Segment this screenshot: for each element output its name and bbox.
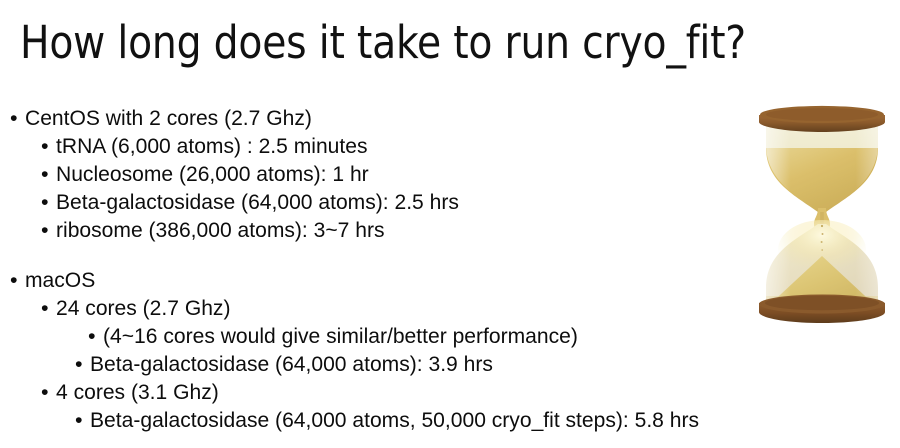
list-item: • Nucleosome (26,000 atoms): 1 hr: [0, 160, 745, 188]
hourglass-icon: [752, 100, 892, 328]
bullet-icon: •: [41, 294, 49, 322]
list-item-label: 4 cores (3.1 Ghz): [56, 378, 219, 406]
list-item-label: CentOS with 2 cores (2.7 Ghz): [25, 104, 312, 132]
list-item: • Beta-galactosidase (64,000 atoms): 2.5…: [0, 188, 745, 216]
bullet-icon: •: [88, 322, 96, 350]
bullet-icon: •: [10, 104, 18, 132]
page-title: How long does it take to run cryo_fit?: [20, 16, 728, 70]
list-item-label: macOS: [25, 266, 95, 294]
list-item: • CentOS with 2 cores (2.7 Ghz): [0, 104, 745, 132]
list-item-label: 24 cores (2.7 Ghz): [56, 294, 230, 322]
list-item: • (4~16 cores would give similar/better …: [0, 322, 745, 350]
bullet-icon: •: [75, 350, 83, 378]
list-item: • Beta-galactosidase (64,000 atoms): 3.9…: [0, 350, 745, 378]
bullet-icon: •: [10, 266, 18, 294]
list-item-label: Nucleosome (26,000 atoms): 1 hr: [56, 160, 369, 188]
bullet-icon: •: [41, 160, 49, 188]
bullet-icon: •: [41, 216, 49, 244]
list-item-label: tRNA (6,000 atoms) : 2.5 minutes: [56, 132, 368, 160]
bullet-icon: •: [41, 132, 49, 160]
list-item: • Beta-galactosidase (64,000 atoms, 50,0…: [0, 406, 745, 434]
bullet-icon: •: [41, 378, 49, 406]
list-item: • 4 cores (3.1 Ghz): [0, 378, 745, 406]
list-spacer: [0, 244, 745, 266]
list-item-label: Beta-galactosidase (64,000 atoms): 2.5 h…: [56, 188, 459, 216]
list-item: • 24 cores (2.7 Ghz): [0, 294, 745, 322]
slide-canvas: How long does it take to run cryo_fit? •…: [0, 0, 900, 448]
bullet-icon: •: [75, 406, 83, 434]
list-item-label: Beta-galactosidase (64,000 atoms): 3.9 h…: [90, 350, 493, 378]
bullet-list: • CentOS with 2 cores (2.7 Ghz) • tRNA (…: [0, 104, 745, 434]
list-item-label: ribosome (386,000 atoms): 3~7 hrs: [56, 216, 385, 244]
list-item: • ribosome (386,000 atoms): 3~7 hrs: [0, 216, 745, 244]
list-item-label: (4~16 cores would give similar/better pe…: [103, 322, 578, 350]
bullet-icon: •: [41, 188, 49, 216]
list-item: • tRNA (6,000 atoms) : 2.5 minutes: [0, 132, 745, 160]
list-item-label: Beta-galactosidase (64,000 atoms, 50,000…: [90, 406, 699, 434]
list-item: • macOS: [0, 266, 745, 294]
